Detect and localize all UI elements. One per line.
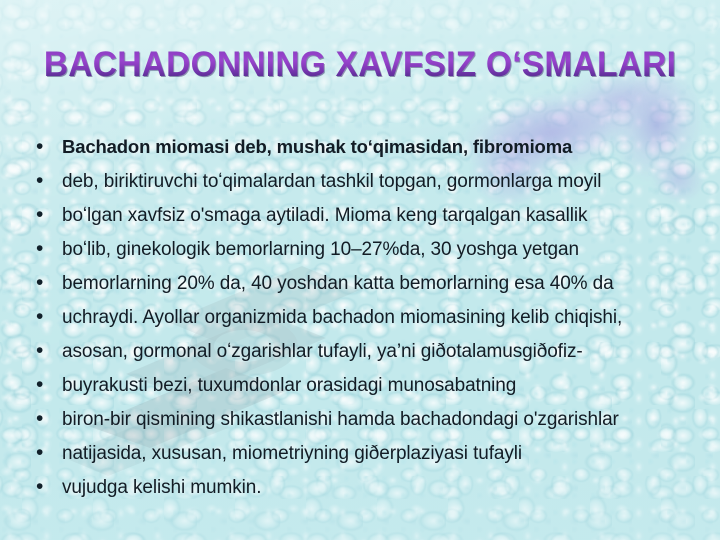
bullet-dot-icon: • — [36, 436, 62, 470]
bullet-item: •asosan, gormonal oʻzgarishlar tufayli, … — [36, 334, 686, 368]
bullet-item: •bemorlarning 20% da, 40 yoshdan katta b… — [36, 266, 686, 300]
bullet-text: buyrakusti bezi, tuxumdonlar orasidagi m… — [62, 369, 686, 403]
bullet-item: •biron-bir qismining shikastlanishi hamd… — [36, 402, 686, 436]
bullet-text: Bachadon miomasi deb, mushak toʻqimasida… — [62, 130, 686, 164]
slide-title: BACHADONNING XAVFSIZ OʻSMALARI — [14, 44, 705, 86]
bullet-text: bemorlarning 20% da, 40 yoshdan katta be… — [62, 267, 686, 301]
bullet-item: •vujudga kelishi mumkin. — [36, 470, 686, 504]
bullet-item: •deb, biriktiruvchi toʻqimalardan tashki… — [36, 164, 686, 198]
bullet-item: •uchraydi. Ayollar organizmida bachadon … — [36, 300, 686, 334]
bullet-dot-icon: • — [36, 402, 62, 436]
bullet-text: vujudga kelishi mumkin. — [62, 471, 686, 505]
bullet-text: natijasida, xususan, miometriyning giðer… — [62, 437, 686, 471]
bullet-text: deb, biriktiruvchi toʻqimalardan tashkil… — [62, 165, 686, 199]
bullet-item: •natijasida, xususan, miometriyning giðe… — [36, 436, 686, 470]
bullet-list: •Bachadon miomasi deb, mushak toʻqimasid… — [36, 130, 686, 504]
bullet-dot-icon: • — [36, 266, 62, 300]
bullet-dot-icon: • — [36, 300, 62, 334]
bullet-item: •boʻlgan xavfsiz o'smaga aytiladi. Mioma… — [36, 198, 686, 232]
bullet-dot-icon: • — [36, 164, 62, 198]
bullet-text: asosan, gormonal oʻzgarishlar tufayli, y… — [62, 335, 686, 369]
bullet-dot-icon: • — [36, 368, 62, 402]
bullet-item: •buyrakusti bezi, tuxumdonlar orasidagi … — [36, 368, 686, 402]
bullet-text: boʻlgan xavfsiz o'smaga aytiladi. Mioma … — [62, 199, 686, 233]
bullet-dot-icon: • — [36, 334, 62, 368]
bullet-item: •Bachadon miomasi deb, mushak toʻqimasid… — [36, 130, 686, 164]
bullet-dot-icon: • — [36, 198, 62, 232]
bullet-text: biron-bir qismining shikastlanishi hamda… — [62, 403, 686, 437]
bullet-dot-icon: • — [36, 470, 62, 504]
bullet-dot-icon: • — [36, 232, 62, 266]
bullet-dot-icon: • — [36, 130, 62, 164]
presentation-slide: BACHADONNING XAVFSIZ OʻSMALARI •Bachadon… — [0, 0, 720, 540]
bullet-item: •boʻlib, ginekologik bemorlarning 10–27%… — [36, 232, 686, 266]
bullet-text: uchraydi. Ayollar organizmida bachadon m… — [62, 301, 686, 335]
bullet-text: boʻlib, ginekologik bemorlarning 10–27%d… — [62, 233, 686, 267]
